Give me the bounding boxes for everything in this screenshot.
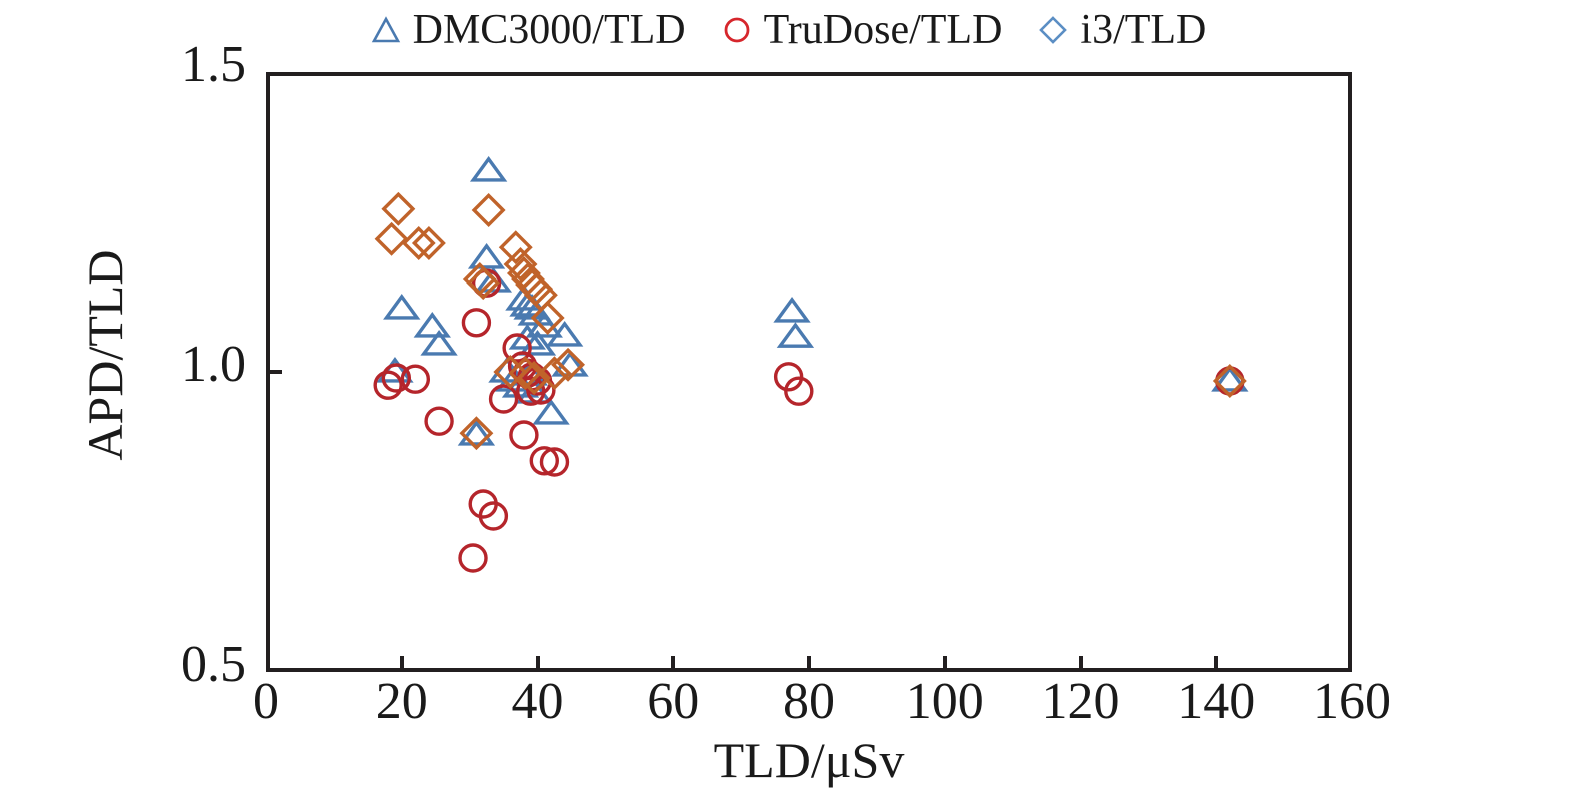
scatter-chart-figure: DMC3000/TLD TruDose/TLD i3/TLD 020406080…	[0, 0, 1575, 804]
y-axis-title: APD/TLD	[80, 55, 130, 655]
data-point-diamond	[404, 228, 433, 257]
data-point-triangle	[417, 315, 448, 336]
legend-label-dmc3000: DMC3000/TLD	[413, 9, 686, 51]
data-point-triangle	[461, 423, 492, 444]
x-tick	[943, 656, 947, 672]
x-tick	[1214, 656, 1218, 672]
x-tick	[536, 656, 540, 672]
data-point-circle	[402, 366, 428, 392]
data-point-triangle	[473, 159, 504, 180]
data-point-diamond	[384, 194, 413, 223]
diamond-icon	[1036, 13, 1070, 47]
x-tick	[807, 656, 811, 672]
data-point-diamond	[474, 195, 503, 224]
legend-label-trudose: TruDose/TLD	[764, 9, 1003, 51]
y-tick-label: 1.0	[26, 339, 246, 391]
x-tick	[671, 656, 675, 672]
legend-entry-i3: i3/TLD	[1036, 9, 1206, 51]
data-point-diamond	[377, 224, 406, 253]
data-point-circle	[460, 545, 486, 571]
data-point-diamond	[501, 233, 530, 262]
data-point-circle	[463, 310, 489, 336]
data-point-triangle	[536, 402, 567, 423]
data-point-triangle	[777, 300, 808, 321]
x-tick-label: 160	[1272, 676, 1432, 728]
series-2	[375, 270, 1243, 571]
legend-entry-dmc3000: DMC3000/TLD	[369, 9, 686, 51]
data-point-circle	[426, 408, 452, 434]
y-tick-label: 1.5	[26, 39, 246, 91]
x-tick	[400, 656, 404, 672]
x-axis-title: TLD/μSv	[266, 735, 1352, 785]
data-point-circle	[375, 372, 401, 398]
data-point-triangle	[780, 325, 811, 346]
y-tick	[266, 370, 282, 374]
circle-icon	[720, 13, 754, 47]
legend-entry-trudose: TruDose/TLD	[720, 9, 1003, 51]
legend-label-i3: i3/TLD	[1080, 9, 1206, 51]
data-point-triangle	[386, 297, 417, 318]
data-point-circle	[511, 422, 537, 448]
data-point-diamond	[414, 228, 443, 257]
x-tick	[1079, 656, 1083, 672]
data-point-triangle	[471, 246, 502, 267]
triangle-icon	[369, 13, 403, 47]
y-tick-label: 0.5	[26, 639, 246, 691]
plot-data-layer	[266, 72, 1352, 672]
series-1	[380, 159, 1246, 444]
